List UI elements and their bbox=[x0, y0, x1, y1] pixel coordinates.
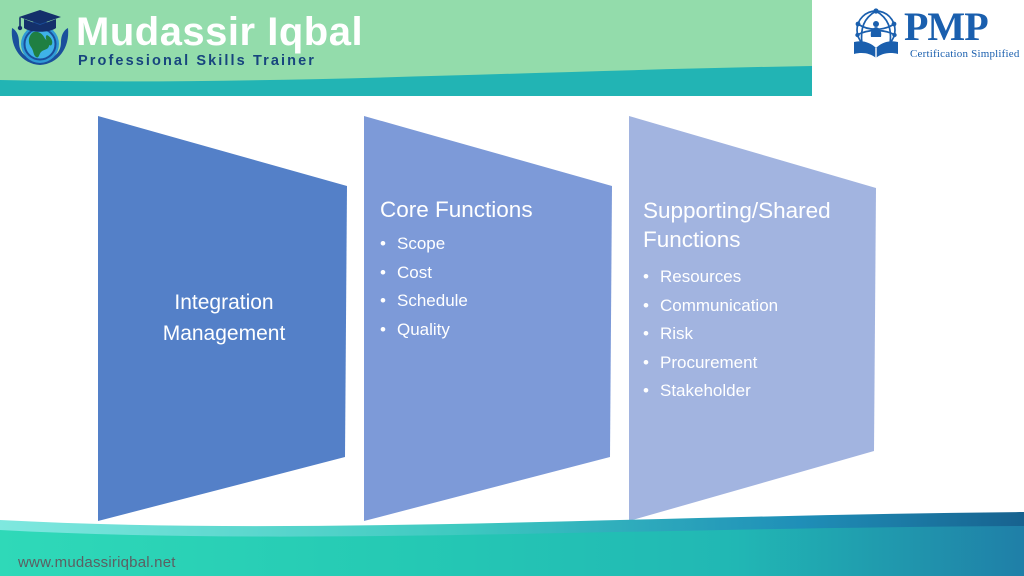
brand-name: Mudassir Iqbal bbox=[76, 9, 363, 55]
integration-title-line-1: Integration bbox=[110, 287, 338, 318]
pmp-wordmark: PMP bbox=[904, 6, 988, 48]
integration-title-line-2: Management bbox=[110, 318, 338, 349]
list-item: Schedule bbox=[380, 287, 590, 316]
supporting-title-line-2: Functions bbox=[643, 225, 875, 254]
core-functions-list: Scope Cost Schedule Quality bbox=[380, 230, 590, 344]
supporting-shared-functions-title: Supporting/Shared Functions bbox=[643, 196, 875, 254]
graduation-cap-globe-icon bbox=[6, 2, 74, 70]
slide-canvas: Mudassir Iqbal Professional Skills Train… bbox=[0, 0, 1024, 576]
pmp-subtitle: Certification Simplified bbox=[910, 48, 1020, 60]
list-item: Communication bbox=[643, 292, 875, 321]
core-functions-text-block: Core Functions Scope Cost Schedule Quali… bbox=[380, 195, 590, 344]
list-item: Risk bbox=[643, 320, 875, 349]
pmp-globe-book-icon bbox=[846, 4, 906, 64]
supporting-shared-functions-text-block: Supporting/Shared Functions Resources Co… bbox=[643, 196, 875, 406]
supporting-title-line-1: Supporting/Shared bbox=[643, 196, 875, 225]
list-item: Quality bbox=[380, 316, 590, 345]
list-item: Resources bbox=[643, 263, 875, 292]
footer-website-url[interactable]: www.mudassiriqbal.net bbox=[18, 554, 176, 572]
pmp-logo: PMP Certification Simplified bbox=[846, 4, 1012, 66]
supporting-shared-functions-list: Resources Communication Risk Procurement… bbox=[643, 263, 875, 406]
brand-tagline: Professional Skills Trainer bbox=[78, 53, 316, 69]
list-item: Procurement bbox=[643, 349, 875, 378]
core-functions-title: Core Functions bbox=[380, 195, 590, 224]
list-item: Scope bbox=[380, 230, 590, 259]
integration-block-title: Integration Management bbox=[110, 287, 338, 349]
list-item: Cost bbox=[380, 259, 590, 288]
list-item: Stakeholder bbox=[643, 377, 875, 406]
